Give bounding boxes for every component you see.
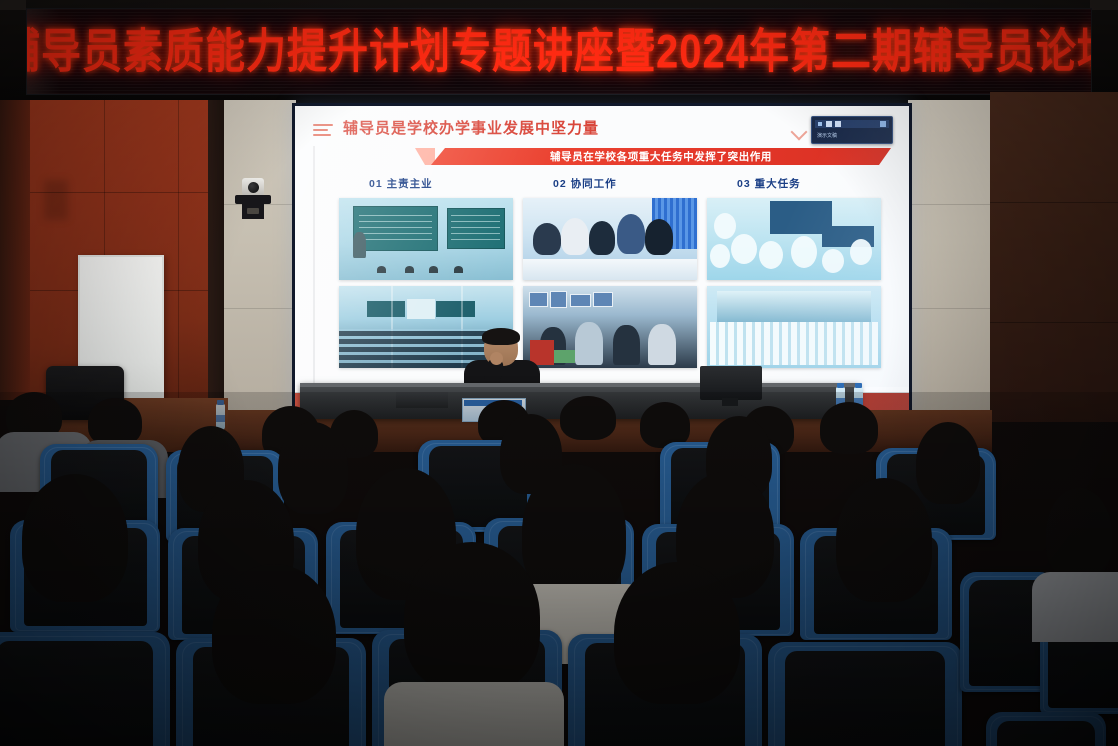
column-heading-02: 02 协同工作 bbox=[553, 176, 617, 191]
presentation-mini-toolbar[interactable]: 演示文稿 bbox=[811, 116, 893, 144]
slide-photo-group-meeting bbox=[523, 198, 697, 280]
ribbon-tail bbox=[415, 148, 435, 165]
slide-photo-epidemic-volunteers bbox=[707, 198, 881, 280]
led-banner: 辅导员素质能力提升计划专题讲座暨2024年第二期辅导员论坛 bbox=[26, 8, 1092, 95]
presenter-desk-edge bbox=[300, 383, 860, 387]
wall-right-wood-panel bbox=[990, 92, 1118, 422]
lecture-hall-screenshot: 辅导员素质能力提升计划专题讲座暨2024年第二期辅导员论坛 bbox=[0, 0, 1118, 746]
ceiling-strip-left bbox=[0, 0, 26, 10]
ptz-camera-icon bbox=[232, 178, 272, 220]
led-banner-text: 辅导员素质能力提升计划专题讲座暨2024年第二期辅导员论坛 bbox=[26, 28, 1092, 75]
auditorium-seat[interactable] bbox=[768, 642, 962, 746]
auditorium-seat[interactable] bbox=[0, 632, 170, 746]
cursor-icon bbox=[791, 124, 808, 141]
mini-toolbar-label: 演示文稿 bbox=[817, 132, 837, 139]
ceiling-strip-right bbox=[1090, 0, 1118, 10]
audience-area bbox=[0, 392, 1118, 746]
slide-photo-blackboard-teaching bbox=[339, 198, 513, 280]
projection-screen: 辅导员是学校办学事业发展中坚力量 辅导员在学校各项重大任务中发挥了突出作用 01… bbox=[292, 103, 912, 416]
slide-left-rule bbox=[313, 146, 315, 413]
camera-shadow bbox=[44, 180, 68, 220]
slide-photo-office-discussion bbox=[523, 286, 697, 368]
wall-left-dark-edge bbox=[0, 100, 32, 400]
auditorium-seat[interactable] bbox=[986, 712, 1106, 746]
slide-canvas: 辅导员是学校办学事业发展中坚力量 辅导员在学校各项重大任务中发挥了突出作用 01… bbox=[295, 106, 909, 413]
wall-panel-right bbox=[908, 100, 992, 412]
slide-ribbon-text: 辅导员在学校各项重大任务中发挥了突出作用 bbox=[550, 149, 772, 164]
wall-panel-left bbox=[224, 100, 296, 412]
slide-photo-team-group bbox=[707, 286, 881, 368]
column-heading-01: 01 主责主业 bbox=[369, 176, 433, 191]
slide-title: 辅导员是学校办学事业发展中坚力量 bbox=[343, 117, 599, 138]
hamburger-icon bbox=[313, 124, 333, 138]
column-heading-03: 03 重大任务 bbox=[737, 176, 801, 191]
slide-ribbon: 辅导员在学校各项重大任务中发挥了突出作用 bbox=[431, 148, 891, 165]
